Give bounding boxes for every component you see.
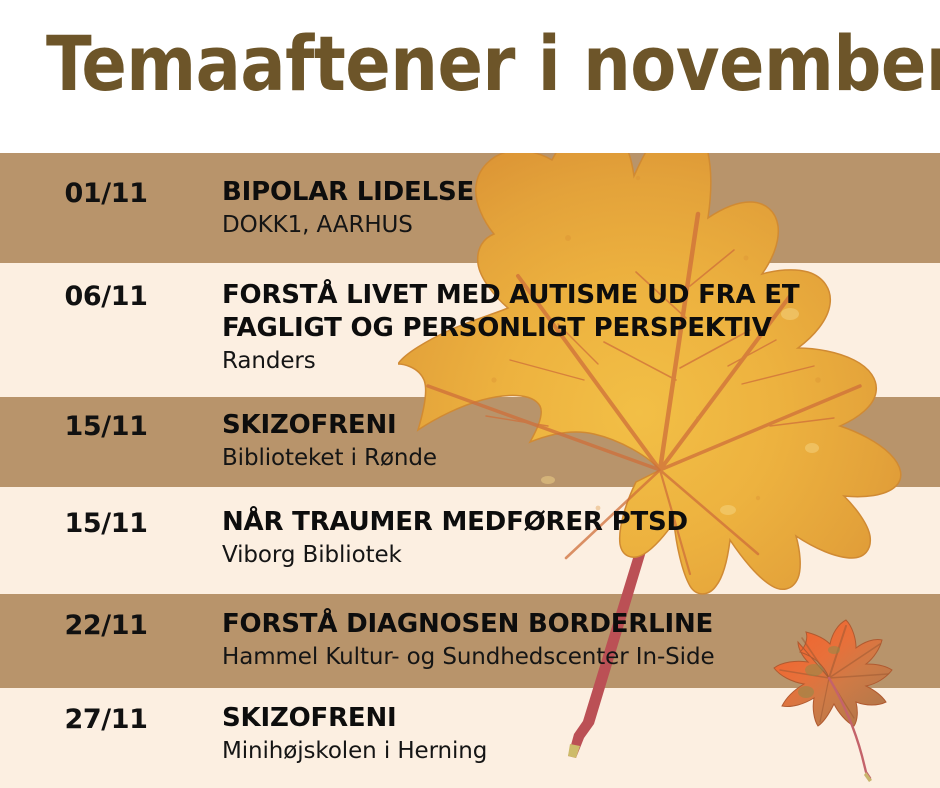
event-details: SKIZOFRENI Biblioteket i Rønde [222, 409, 922, 473]
event-date: 01/11 [0, 178, 212, 210]
event-location: DOKK1, AARHUS [222, 211, 922, 240]
event-details: FORSTÅ DIAGNOSEN BORDERLINE Hammel Kultu… [222, 608, 922, 672]
event-date: 15/11 [0, 411, 212, 443]
event-title: SKIZOFRENI [222, 409, 922, 442]
list-item[interactable]: 06/11 FORSTÅ LIVET MED AUTISME UD FRA ET… [0, 263, 940, 397]
list-item[interactable]: 22/11 FORSTÅ DIAGNOSEN BORDERLINE Hammel… [0, 594, 940, 688]
event-location: Viborg Bibliotek [222, 541, 922, 570]
event-details: NÅR TRAUMER MEDFØRER PTSD Viborg Bibliot… [222, 506, 922, 570]
event-details: SKIZOFRENI Minihøjskolen i Herning [222, 702, 922, 766]
event-title: FORSTÅ DIAGNOSEN BORDERLINE [222, 608, 922, 641]
event-details: FORSTÅ LIVET MED AUTISME UD FRA ET FAGLI… [222, 279, 922, 376]
event-title: FORSTÅ LIVET MED AUTISME UD FRA ET FAGLI… [222, 279, 922, 345]
event-date: 22/11 [0, 610, 212, 642]
header-band: Temaaftener i november [0, 0, 940, 153]
event-title: BIPOLAR LIDELSE [222, 176, 922, 209]
list-item[interactable]: 27/11 SKIZOFRENI Minihøjskolen i Herning [0, 688, 940, 788]
list-item[interactable]: 15/11 NÅR TRAUMER MEDFØRER PTSD Viborg B… [0, 487, 940, 594]
page-title: Temaaftener i november [46, 22, 908, 106]
event-date: 06/11 [0, 281, 212, 313]
event-title: SKIZOFRENI [222, 702, 922, 735]
event-location: Biblioteket i Rønde [222, 444, 922, 473]
event-details: BIPOLAR LIDELSE DOKK1, AARHUS [222, 176, 922, 240]
list-item[interactable]: 01/11 BIPOLAR LIDELSE DOKK1, AARHUS [0, 153, 940, 263]
event-location: Randers [222, 347, 922, 376]
event-date: 15/11 [0, 508, 212, 540]
poster-canvas: Temaaftener i november 01/11 BIPOLAR LID… [0, 0, 940, 788]
event-location: Hammel Kultur- og Sundhedscenter In-Side [222, 643, 922, 672]
event-date: 27/11 [0, 704, 212, 736]
event-location: Minihøjskolen i Herning [222, 737, 922, 766]
event-title: NÅR TRAUMER MEDFØRER PTSD [222, 506, 922, 539]
list-item[interactable]: 15/11 SKIZOFRENI Biblioteket i Rønde [0, 397, 940, 487]
